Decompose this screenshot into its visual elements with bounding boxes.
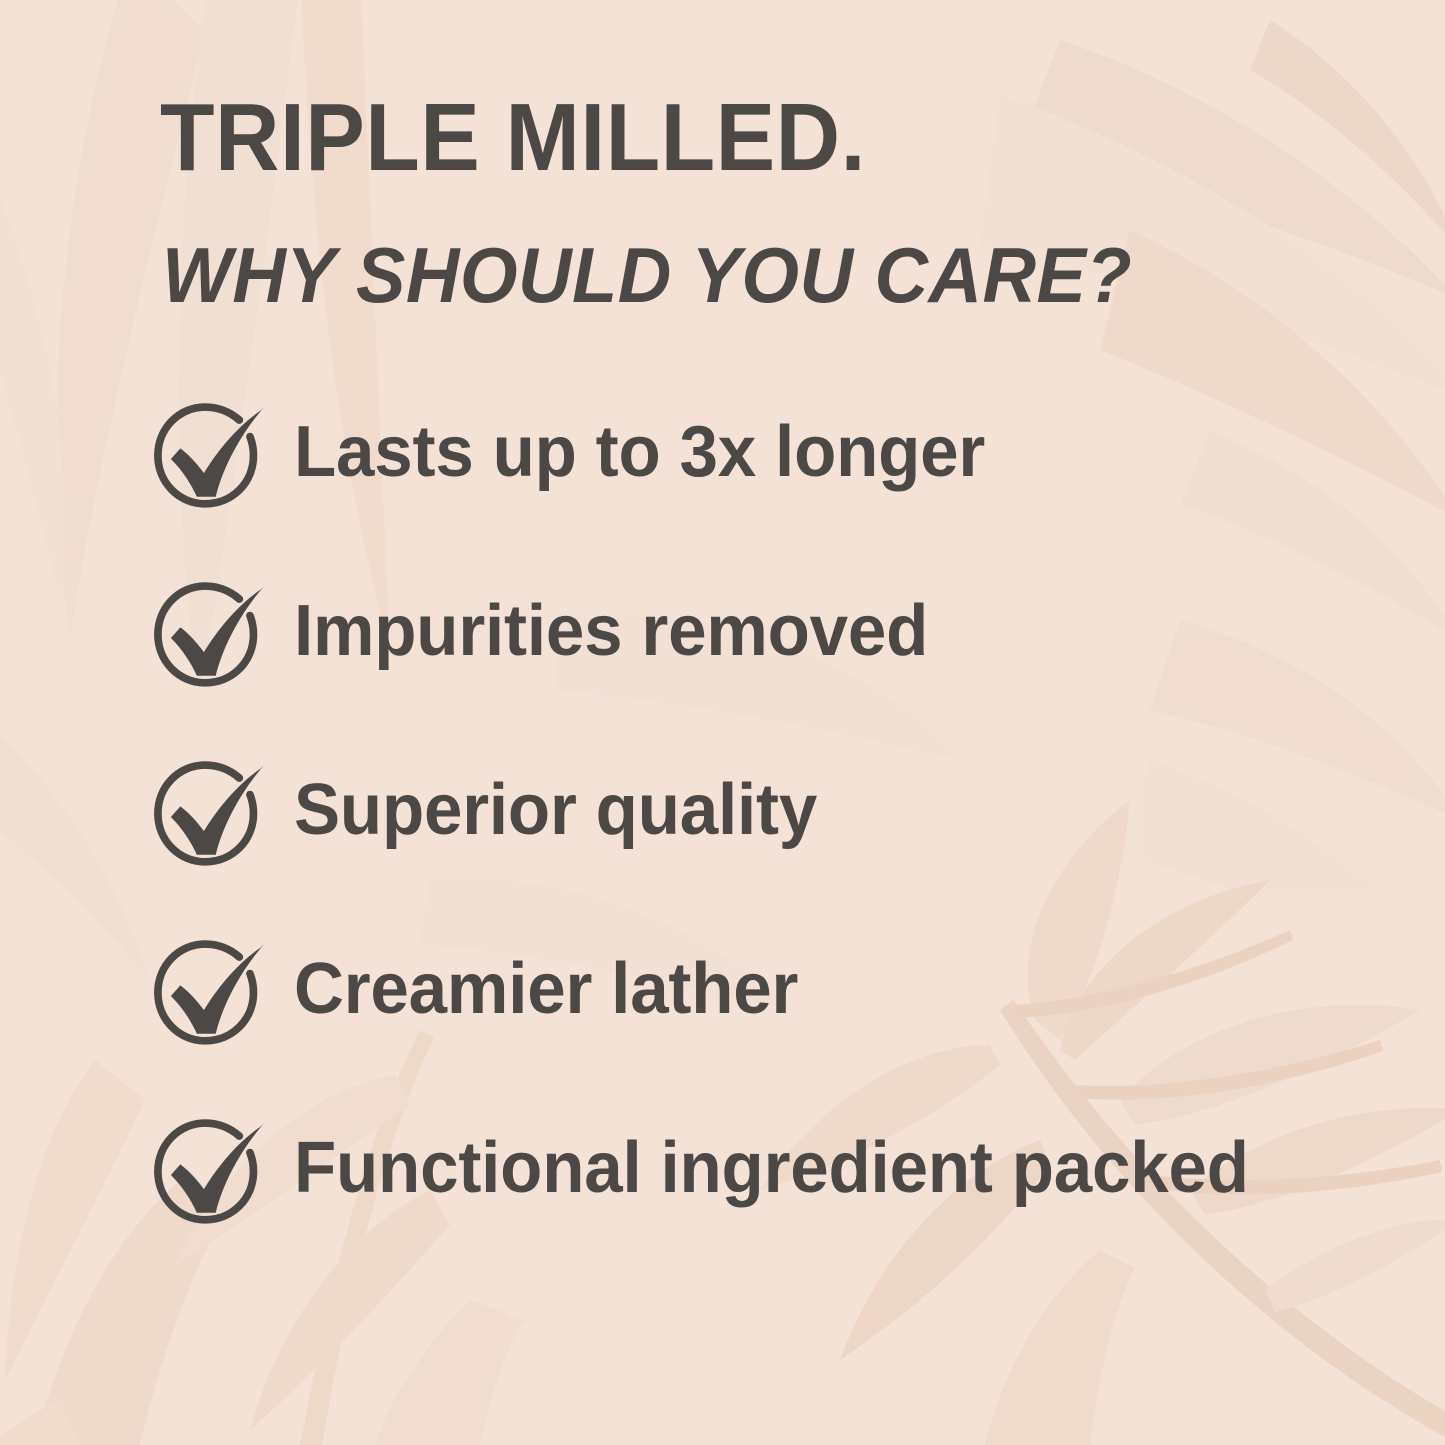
benefit-label: Superior quality (294, 756, 817, 851)
check-circle-icon (152, 758, 270, 876)
benefit-label: Functional ingredient packed (294, 1114, 1249, 1209)
benefits-list: Lasts up to 3x longer Impurities removed… (152, 398, 1295, 1234)
benefit-label: Creamier lather (294, 935, 798, 1030)
product-benefits-poster: TRIPLE MILLED. WHY SHOULD YOU CARE? Last… (0, 0, 1445, 1445)
benefit-label: Lasts up to 3x longer (294, 398, 985, 493)
check-circle-icon (152, 1116, 270, 1234)
list-item: Lasts up to 3x longer (152, 398, 1295, 518)
list-item: Impurities removed (152, 577, 1295, 697)
page-title: TRIPLE MILLED. (160, 92, 866, 184)
list-item: Superior quality (152, 756, 1295, 876)
benefit-label: Impurities removed (294, 577, 928, 672)
check-circle-icon (152, 937, 270, 1055)
list-item: Functional ingredient packed (152, 1114, 1295, 1234)
check-circle-icon (152, 579, 270, 697)
page-subtitle: WHY SHOULD YOU CARE? (162, 236, 1132, 314)
list-item: Creamier lather (152, 935, 1295, 1055)
check-circle-icon (152, 400, 270, 518)
